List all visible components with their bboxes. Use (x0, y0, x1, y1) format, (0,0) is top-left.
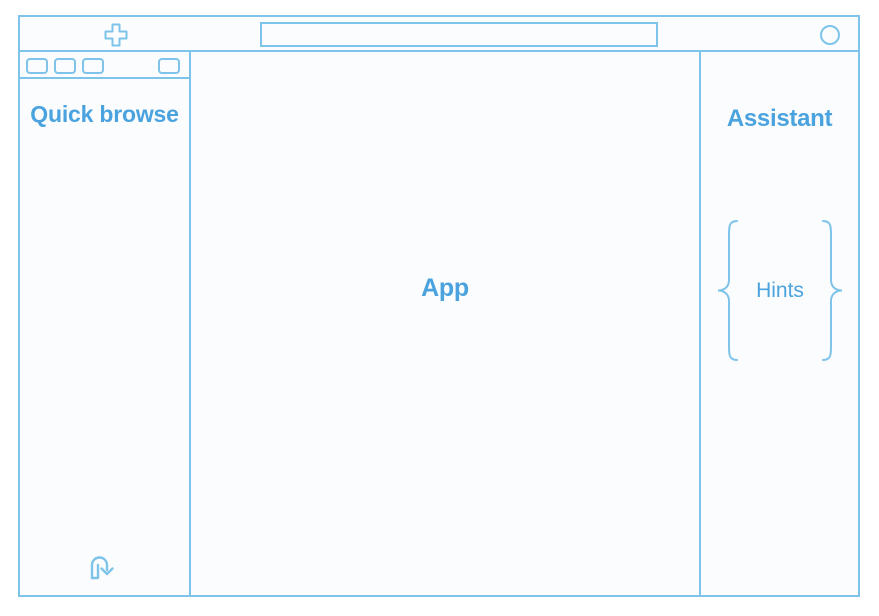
top-bar (20, 17, 858, 52)
search-input[interactable] (260, 22, 658, 47)
tab-action-square-icon[interactable] (158, 58, 180, 74)
tab-square-icon[interactable] (54, 58, 76, 74)
app-panel-label: App (191, 274, 699, 303)
sidebar-title: Quick browse (20, 101, 189, 128)
u-turn-arrow-icon (87, 553, 119, 581)
assistant-title: Assistant (701, 105, 858, 133)
app-main-panel: App (191, 52, 701, 595)
tab-square-icon[interactable] (26, 58, 48, 74)
quick-browse-sidebar: Quick browse (20, 79, 191, 595)
right-curly-brace-icon (819, 218, 845, 363)
u-turn-arrow-button[interactable] (87, 553, 119, 581)
tab-strip (20, 52, 191, 79)
wireframe-window: Quick browse App Assistant Hints (18, 15, 860, 597)
plus-icon (103, 22, 129, 48)
assistant-panel: Assistant Hints (701, 52, 858, 595)
add-button[interactable] (103, 22, 129, 48)
circle-avatar-icon[interactable] (820, 25, 840, 45)
hints-block: Hints (715, 218, 845, 363)
tab-square-icon[interactable] (82, 58, 104, 74)
